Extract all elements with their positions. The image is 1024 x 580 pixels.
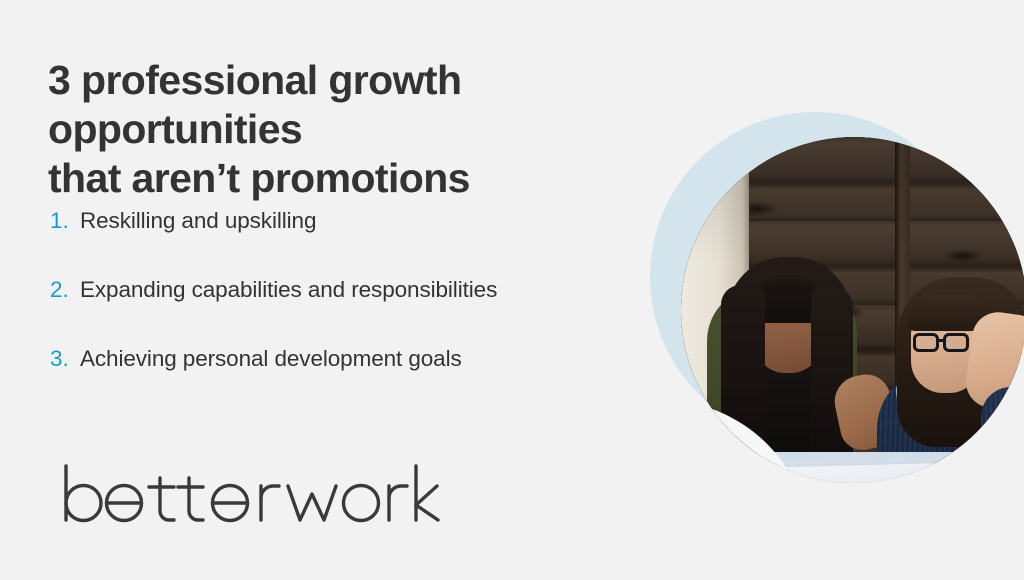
list-item-label: Reskilling and upskilling <box>80 207 670 235</box>
slide-canvas: 3 professional growth opportunities that… <box>0 0 1024 580</box>
person-left-arm <box>689 467 809 563</box>
list-item-label: Achieving personal development goals <box>80 345 670 373</box>
artwork-composition <box>644 0 1024 580</box>
ceramic-mug-handle <box>995 545 1017 577</box>
eyeglasses-right-lens <box>943 333 969 352</box>
list-item-label: Expanding capabilities and responsibilit… <box>80 276 670 304</box>
wood-knot <box>943 249 983 263</box>
person-right-arm <box>981 387 1024 577</box>
list-item: 3. Achieving personal development goals <box>50 345 670 414</box>
betterworks-logo <box>48 456 448 528</box>
list-item-number: 2. <box>50 276 80 304</box>
laptop-base <box>751 570 979 580</box>
ceramic-mug <box>955 528 1001 580</box>
list-item: 1. Reskilling and upskilling <box>50 207 670 276</box>
text-column: 3 professional growth opportunities that… <box>48 0 688 580</box>
person-left-hand-on-table <box>697 533 753 575</box>
eyeglasses-left-lens <box>913 333 939 352</box>
list-item: 2. Expanding capabilities and responsibi… <box>50 276 670 345</box>
growth-opportunities-list: 1. Reskilling and upskilling 2. Expandin… <box>50 207 670 414</box>
photo-circle-mask <box>681 137 1024 580</box>
laptop-screen <box>767 463 960 579</box>
list-item-number: 3. <box>50 345 80 373</box>
ceramic-mug-rim <box>953 524 1003 534</box>
list-item-number: 1. <box>50 207 80 235</box>
paper-coffee-cup <box>831 543 869 580</box>
page-title: 3 professional growth opportunities that… <box>48 56 688 203</box>
photo-two-women-at-laptop <box>681 137 1024 580</box>
paper-cup-rim <box>829 540 871 548</box>
